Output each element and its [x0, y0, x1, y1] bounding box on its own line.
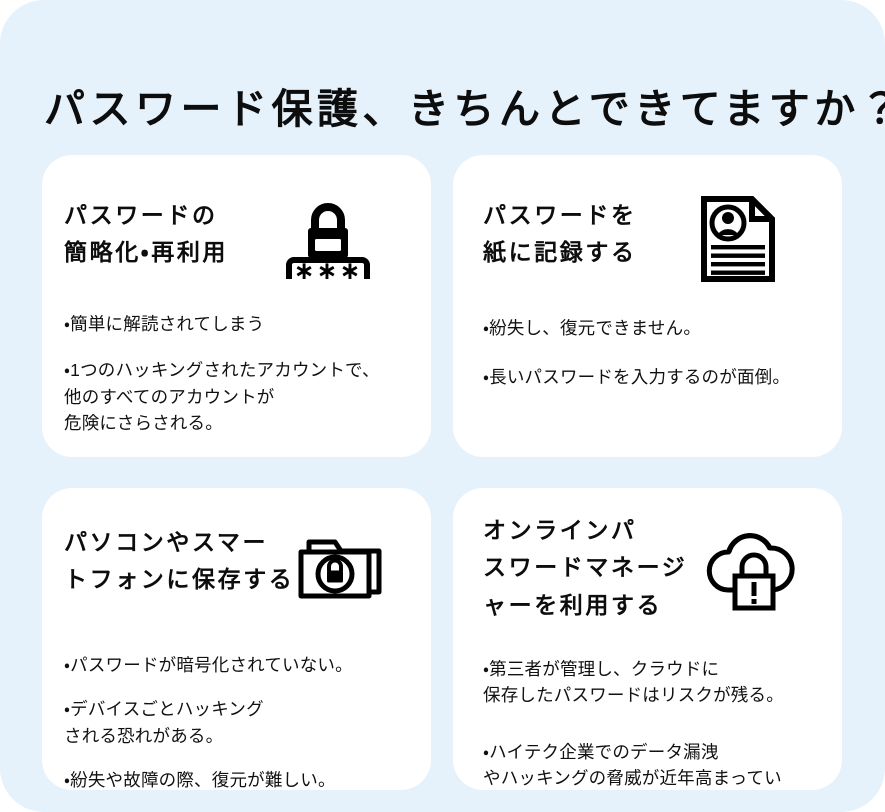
card-body: ・パスワードが暗号化されていない。 ・デバイスごとハッキング される恐れがある。…: [64, 652, 405, 790]
card-heading: パソコンやスマー トフォンに保存する: [64, 524, 322, 599]
card-body: ・紛失し、復元できません。 ・長いパスワードを入力するのが面倒。: [483, 315, 816, 390]
bullet-item: ・デバイスごとハッキング される恐れがある。: [64, 696, 405, 749]
bullet-item: ・1つのハッキングされたアカウントで、 他のすべてのアカウントが 危険にさらされ…: [64, 357, 405, 437]
card-heading: パスワードの 簡略化・再利用: [64, 197, 314, 272]
card-use-online-password-manager: オンラインパ スワードマネージ ャーを利用する: [453, 488, 842, 790]
card-password-simplification-reuse: パスワードの 簡略化・再利用 ∗∗∗ ・簡単に解読されてしまう: [42, 155, 431, 457]
card-body: ・第三者が管理し、クラウドに 保存したパスワードはリスクが残る。 ・ハイテク企業…: [483, 656, 816, 791]
page-title: パスワード保護、きちんとできてますか？: [44, 85, 885, 134]
folder-lock-icon: [295, 530, 387, 604]
infographic-poster: パスワード保護、きちんとできてますか？ パスワードの 簡略化・再利用 ∗∗∗: [0, 0, 885, 812]
bullet-item: ・紛失や故障の際、復元が難しい。: [64, 767, 405, 790]
card-body: ・簡単に解読されてしまう ・1つのハッキングされたアカウントで、 他のすべてのア…: [64, 311, 405, 437]
bullet-item: ・パスワードが暗号化されていない。: [64, 652, 405, 679]
card-record-password-on-paper: パスワードを 紙に記録する: [453, 155, 842, 457]
document-person-icon: [700, 195, 776, 283]
bullet-item: ・第三者が管理し、クラウドに 保存したパスワードはリスクが残る。: [483, 656, 816, 709]
bullet-item: ・簡単に解読されてしまう: [64, 311, 405, 338]
card-heading: パスワードを 紙に記録する: [483, 197, 733, 272]
cloud-lock-alert-icon: [698, 528, 802, 612]
padlock-asterisk-icon: ∗∗∗: [285, 199, 371, 279]
card-header: パスワードを 紙に記録する: [483, 197, 816, 293]
svg-text:∗∗∗: ∗∗∗: [294, 256, 363, 279]
card-grid: パスワードの 簡略化・再利用 ∗∗∗ ・簡単に解読されてしまう: [42, 155, 842, 812]
card-header: オンラインパ スワードマネージ ャーを利用する: [483, 512, 816, 638]
card-heading: オンラインパ スワードマネージ ャーを利用する: [483, 512, 731, 624]
card-header: パスワードの 簡略化・再利用 ∗∗∗: [64, 197, 405, 293]
bullet-item: ・ハイテク企業でのデータ漏洩 やハッキングの脅威が近年高まっている。: [483, 739, 816, 790]
bullet-item: ・長いパスワードを入力するのが面倒。: [483, 364, 816, 391]
bullet-item: ・紛失し、復元できません。: [483, 315, 816, 342]
card-header: パソコンやスマー トフォンに保存する: [64, 524, 405, 620]
card-save-on-pc-or-smartphone: パソコンやスマー トフォンに保存する ・パスワードが暗号化されていな: [42, 488, 431, 790]
